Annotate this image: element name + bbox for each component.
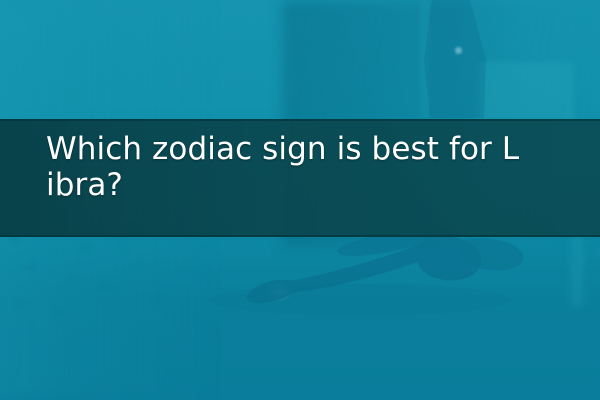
caption-band: Which zodiac sign is best for L ibra? (0, 119, 600, 237)
background-light-speck-icon (455, 47, 462, 54)
background-foliage-texture (0, 225, 190, 355)
background-floor-highlight (272, 286, 288, 297)
caption-band-bottom-divider (0, 235, 600, 237)
background-doorway-edge (418, 0, 432, 120)
caption-text: Which zodiac sign is best for L ibra? (46, 131, 586, 203)
background-window-panel (478, 62, 574, 120)
thumbnail-canvas: Which zodiac sign is best for L ibra? (0, 0, 600, 400)
background-right-vertical-edge (568, 236, 586, 306)
caption-band-top-divider (0, 119, 600, 121)
